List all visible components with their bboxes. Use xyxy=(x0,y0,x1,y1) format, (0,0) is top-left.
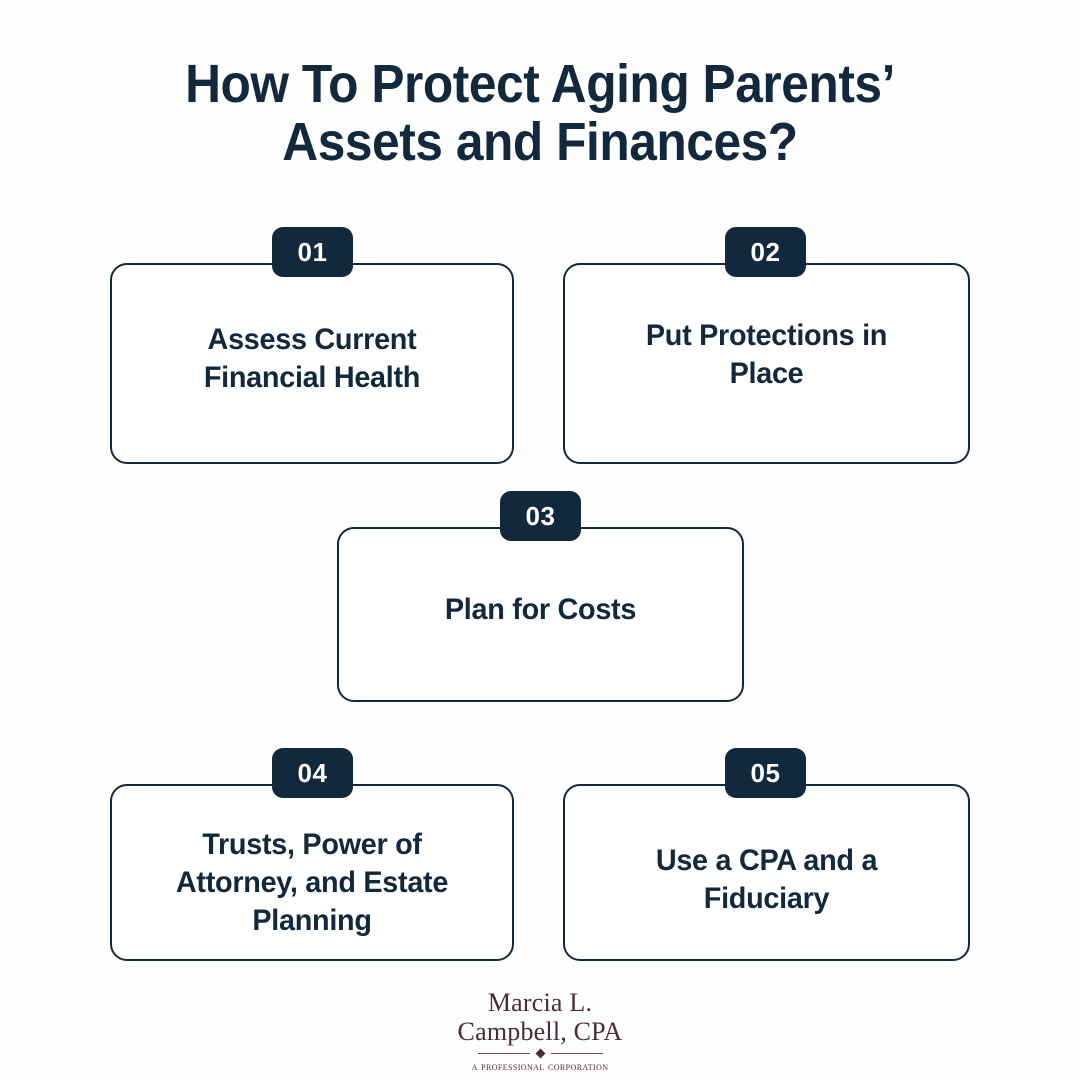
step-number-badge-3: 03 xyxy=(500,491,581,541)
step-card-3: Plan for Costs xyxy=(337,527,744,702)
step-number-badge-2: 02 xyxy=(725,227,806,277)
step-card-4-text: Trusts, Power of Attorney, and Estate Pl… xyxy=(128,826,497,939)
step-card-3-line-1: Plan for Costs xyxy=(355,591,727,629)
step-card-1-text: Assess Current Financial Health xyxy=(128,321,497,397)
step-card-1: Assess Current Financial Health xyxy=(110,263,514,464)
brand-logo: Marcia L. Campbell, CPA A Professional C… xyxy=(0,988,1080,1074)
step-card-2-line-2: Place xyxy=(581,355,953,393)
page-title-line-2: Assets and Finances? xyxy=(43,114,1037,172)
step-number-badge-5: 05 xyxy=(725,748,806,798)
step-card-1-line-1: Assess Current xyxy=(128,321,497,359)
brand-logo-line-2: Campbell, CPA xyxy=(0,1017,1080,1046)
step-number-badge-4: 04 xyxy=(272,748,353,798)
diamond-icon xyxy=(535,1049,545,1059)
step-card-4: Trusts, Power of Attorney, and Estate Pl… xyxy=(110,784,514,961)
step-card-3-text: Plan for Costs xyxy=(355,591,727,629)
brand-logo-line-1: Marcia L. xyxy=(0,988,1080,1017)
step-card-2-line-1: Put Protections in xyxy=(581,317,953,355)
page-title-line-1: How To Protect Aging Parents’ xyxy=(43,56,1037,114)
step-card-5-line-1: Use a CPA and a xyxy=(581,842,953,880)
step-card-2-text: Put Protections in Place xyxy=(581,317,953,393)
brand-logo-divider xyxy=(0,1050,1080,1057)
step-card-4-line-3: Planning xyxy=(128,902,497,940)
step-card-4-line-2: Attorney, and Estate xyxy=(128,864,497,902)
divider-rule-right xyxy=(551,1053,603,1054)
step-card-5: Use a CPA and a Fiduciary xyxy=(563,784,970,961)
page-title: How To Protect Aging Parents’ Assets and… xyxy=(43,56,1037,172)
step-card-1-line-2: Financial Health xyxy=(128,359,497,397)
step-card-5-text: Use a CPA and a Fiduciary xyxy=(581,842,953,918)
step-number-badge-1: 01 xyxy=(272,227,353,277)
brand-logo-tagline: A Professional Corporation xyxy=(0,1059,1080,1074)
step-card-2: Put Protections in Place xyxy=(563,263,970,464)
step-card-5-line-2: Fiduciary xyxy=(581,880,953,918)
step-card-4-line-1: Trusts, Power of xyxy=(128,826,497,864)
divider-rule-left xyxy=(478,1053,530,1054)
